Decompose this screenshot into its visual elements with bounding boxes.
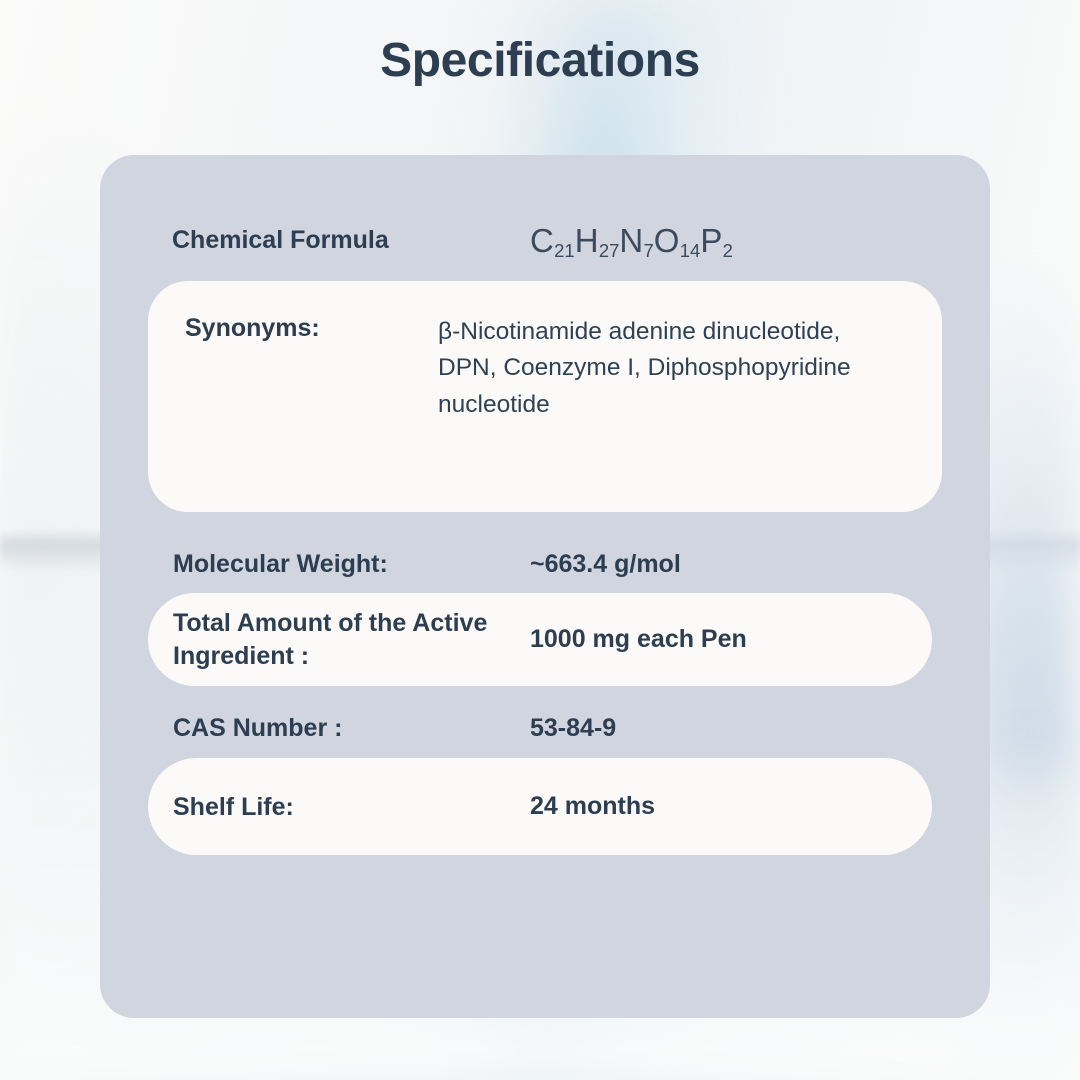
spec-row-total-amount-active-ingredient: Total Amount of the Active Ingredient : … — [148, 593, 932, 686]
formula-part-c: C21 — [530, 222, 575, 259]
spec-label-synonyms: Synonyms: — [148, 312, 438, 344]
spec-row-molecular-weight: Molecular Weight: ~663.4 g/mol — [148, 535, 942, 593]
formula-part-o: O14 — [654, 222, 701, 259]
spec-value-shelf-life: 24 months — [530, 790, 860, 823]
spec-row-chemical-formula: Chemical Formula C21H27N7O14P2 — [148, 203, 942, 277]
spec-value-cas-number: 53-84-9 — [530, 712, 860, 745]
spec-value-synonyms: β-Nicotinamide adenine dinucleotide, DPN… — [438, 312, 888, 423]
spec-value-molecular-weight: ~663.4 g/mol — [530, 548, 860, 581]
spec-label-chemical-formula: Chemical Formula — [148, 224, 530, 256]
spec-row-synonyms: Synonyms: β-Nicotinamide adenine dinucle… — [148, 281, 942, 512]
spec-value-total-amount-active-ingredient: 1000 mg each Pen — [530, 623, 860, 656]
formula-part-n: N7 — [619, 222, 653, 259]
spec-value-chemical-formula: C21H27N7O14P2 — [530, 224, 860, 257]
formula-part-h: H27 — [575, 222, 620, 259]
spec-row-shelf-life: Shelf Life: 24 months — [148, 758, 932, 855]
spec-label-total-amount-active-ingredient: Total Amount of the Active Ingredient : — [148, 607, 530, 672]
specifications-panel: Chemical Formula C21H27N7O14P2 Synonyms:… — [100, 155, 990, 1018]
spec-label-shelf-life: Shelf Life: — [148, 791, 530, 823]
page-title: Specifications — [0, 33, 1080, 88]
spec-label-cas-number: CAS Number : — [148, 712, 530, 744]
spec-row-cas-number: CAS Number : 53-84-9 — [148, 700, 942, 756]
formula-part-p: P2 — [700, 222, 733, 259]
spec-label-molecular-weight: Molecular Weight: — [148, 548, 530, 580]
specifications-page: Specifications Chemical Formula C21H27N7… — [0, 0, 1080, 1080]
